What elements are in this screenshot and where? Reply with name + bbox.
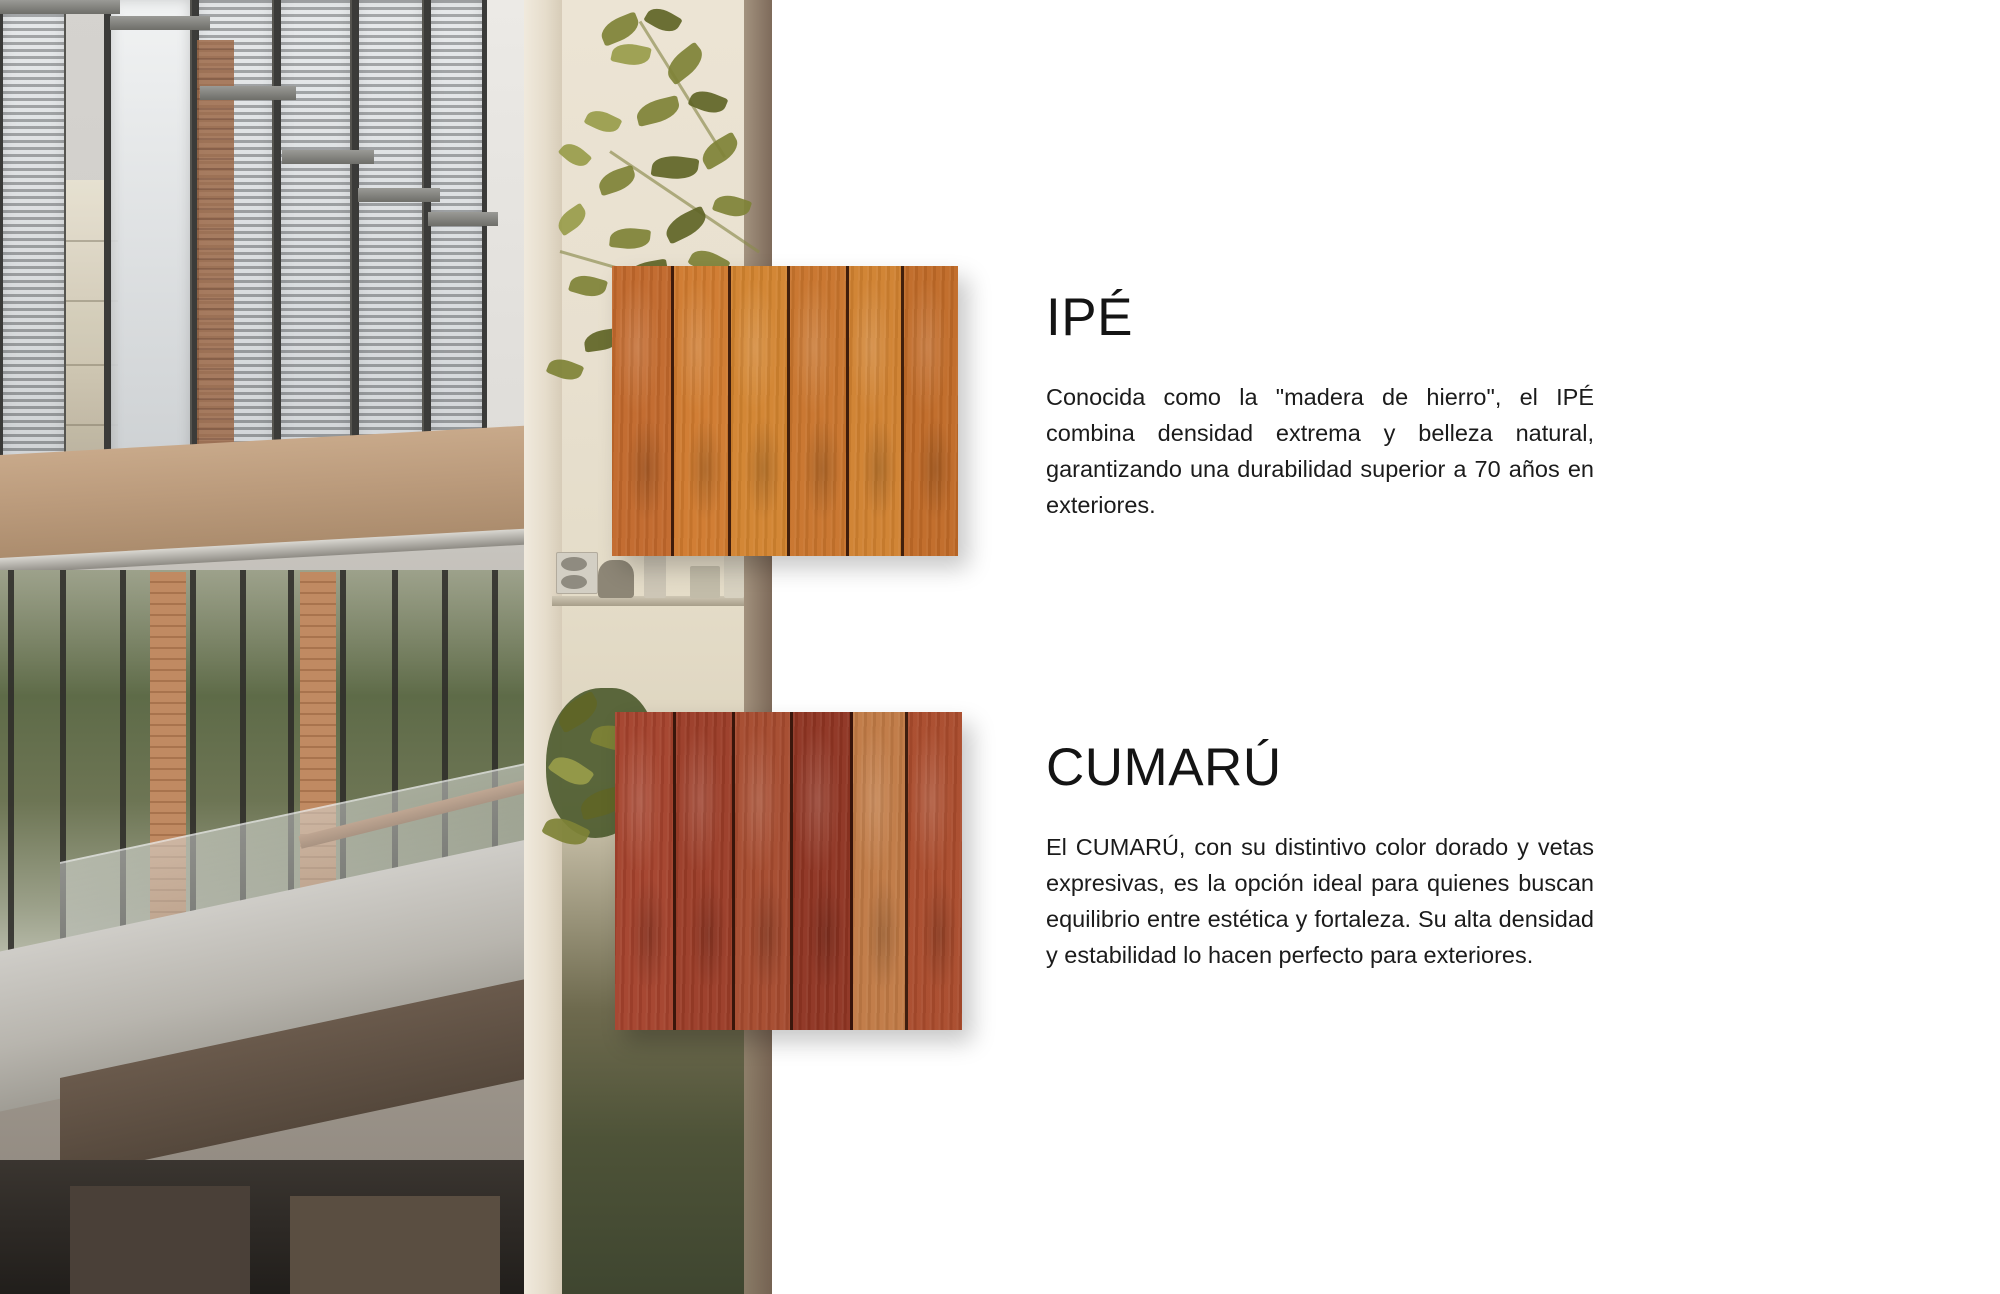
- wood-plank: [853, 712, 909, 1030]
- courtyard-column: [520, 0, 562, 1294]
- lower-level-panel: [70, 1186, 250, 1294]
- shelf-item: [644, 550, 666, 598]
- lower-level-panel: [290, 1196, 500, 1294]
- wood-plank: [793, 712, 853, 1030]
- ipe-text-block: IPÉ Conocida como la "madera de hierro",…: [1046, 290, 1594, 523]
- wood-plank: [790, 266, 848, 556]
- wood-plank: [674, 266, 731, 556]
- glass-bay: [278, 0, 352, 470]
- cumaru-title: CUMARÚ: [1046, 740, 1594, 796]
- air-conditioner-unit: [556, 552, 598, 594]
- wood-plank: [904, 266, 958, 556]
- plank-group: [615, 712, 962, 1030]
- wood-plank: [612, 266, 674, 556]
- wood-plank: [908, 712, 962, 1030]
- ipe-description: Conocida como la "madera de hierro", el …: [1046, 380, 1594, 524]
- shelf-item: [690, 566, 720, 598]
- wood-plank: [615, 712, 676, 1030]
- building-photo: [0, 0, 772, 1294]
- wood-plank: [676, 712, 735, 1030]
- shelf-item: [598, 560, 634, 598]
- glass-bay: [428, 0, 484, 470]
- glass-bay: [0, 0, 66, 470]
- slide-root: IPÉ Conocida como la "madera de hierro",…: [0, 0, 2000, 1294]
- ipe-wood-swatch: [612, 266, 958, 556]
- cumaru-description: El CUMARÚ, con su distintivo color dorad…: [1046, 830, 1594, 974]
- wood-plank: [849, 266, 904, 556]
- wood-plank: [731, 266, 790, 556]
- reflected-wood-cladding: [196, 40, 234, 470]
- courtyard-right-edge: [744, 0, 772, 1294]
- glass-bay: [108, 0, 192, 470]
- ipe-title: IPÉ: [1046, 290, 1594, 346]
- glass-bay: [356, 0, 424, 470]
- wood-plank: [735, 712, 793, 1030]
- cumaru-text-block: CUMARÚ El CUMARÚ, con su distintivo colo…: [1046, 740, 1594, 973]
- plank-group: [612, 266, 958, 556]
- shelf-item: [724, 552, 744, 598]
- cumaru-wood-swatch: [615, 712, 962, 1030]
- facade-block: [0, 0, 524, 1294]
